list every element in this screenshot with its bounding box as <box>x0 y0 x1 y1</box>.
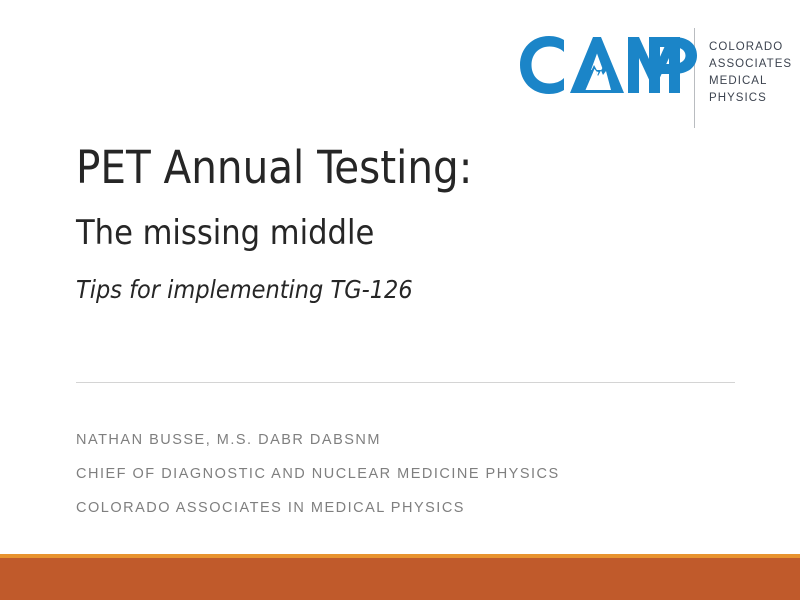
camp-letter-p <box>646 34 706 96</box>
logo-tagline-line-1: COLORADO <box>709 40 792 55</box>
author-organization: COLORADO ASSOCIATES IN MEDICAL PHYSICS <box>76 491 736 525</box>
logo-tagline: COLORADO ASSOCIATES MEDICAL PHYSICS <box>709 40 792 106</box>
logo-tagline-line-3: MEDICAL <box>709 74 792 89</box>
camp-logo: COLORADO ASSOCIATES MEDICAL PHYSICS <box>518 26 784 132</box>
footer-body <box>0 558 800 600</box>
camp-wordmark <box>518 26 686 118</box>
author-title: CHIEF OF DIAGNOSTIC AND NUCLEAR MEDICINE… <box>76 457 736 491</box>
logo-tagline-line-2: ASSOCIATES <box>709 57 792 72</box>
slide-tagline: Tips for implementing TG-126 <box>76 274 756 306</box>
author-name: NATHAN BUSSE, M.S. DABR DABSNM <box>76 423 736 457</box>
horizontal-divider <box>76 382 735 383</box>
slide-title: PET Annual Testing: <box>76 140 756 196</box>
footer-bar <box>0 554 800 600</box>
author-block: NATHAN BUSSE, M.S. DABR DABSNM CHIEF OF … <box>76 423 736 525</box>
title-slide: COLORADO ASSOCIATES MEDICAL PHYSICS PET … <box>0 0 800 600</box>
logo-tagline-line-4: PHYSICS <box>709 91 792 106</box>
title-block: PET Annual Testing: The missing middle T… <box>76 140 756 306</box>
slide-subtitle: The missing middle <box>76 212 756 254</box>
